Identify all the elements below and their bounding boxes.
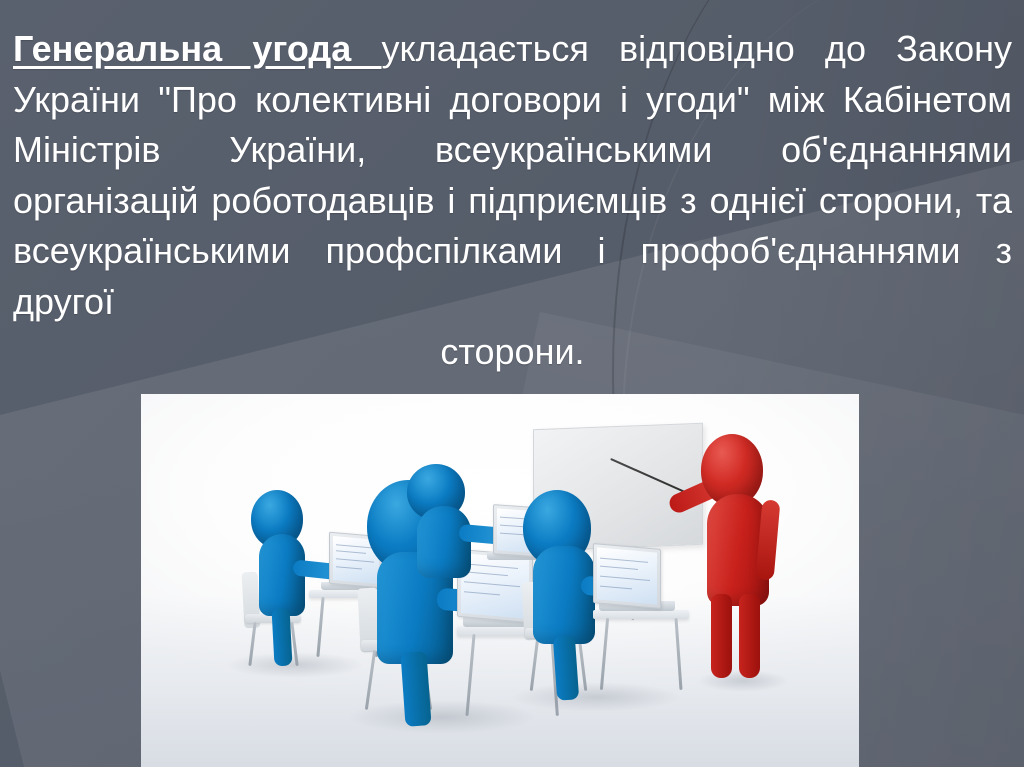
body-text-rest: укладається відповідно до Закону України… — [13, 28, 1012, 322]
presenter-leg-right — [739, 594, 760, 678]
slide-body-last-line: сторони. — [13, 327, 1012, 378]
student-4-laptop-screen — [593, 543, 661, 609]
lead-term: Генеральна угода — [13, 28, 382, 69]
student-1-leg — [271, 608, 292, 667]
student-4-torso — [533, 546, 595, 644]
student-2-laptop-display — [461, 553, 529, 619]
student-2-shadow — [347, 700, 537, 734]
student-4-laptop-display — [597, 547, 657, 604]
training-classroom-illustration — [141, 394, 859, 767]
slide: Генеральна угода укладається відповідно … — [0, 0, 1024, 767]
student-3-torso — [417, 506, 471, 578]
slide-body-text: Генеральна угода укладається відповідно … — [13, 24, 1012, 327]
illustration-canvas — [141, 394, 859, 767]
student-4-shadow — [511, 682, 681, 712]
student-4-leg — [553, 635, 579, 700]
student-2-leg — [400, 651, 431, 727]
presenter-leg-left — [711, 594, 732, 678]
